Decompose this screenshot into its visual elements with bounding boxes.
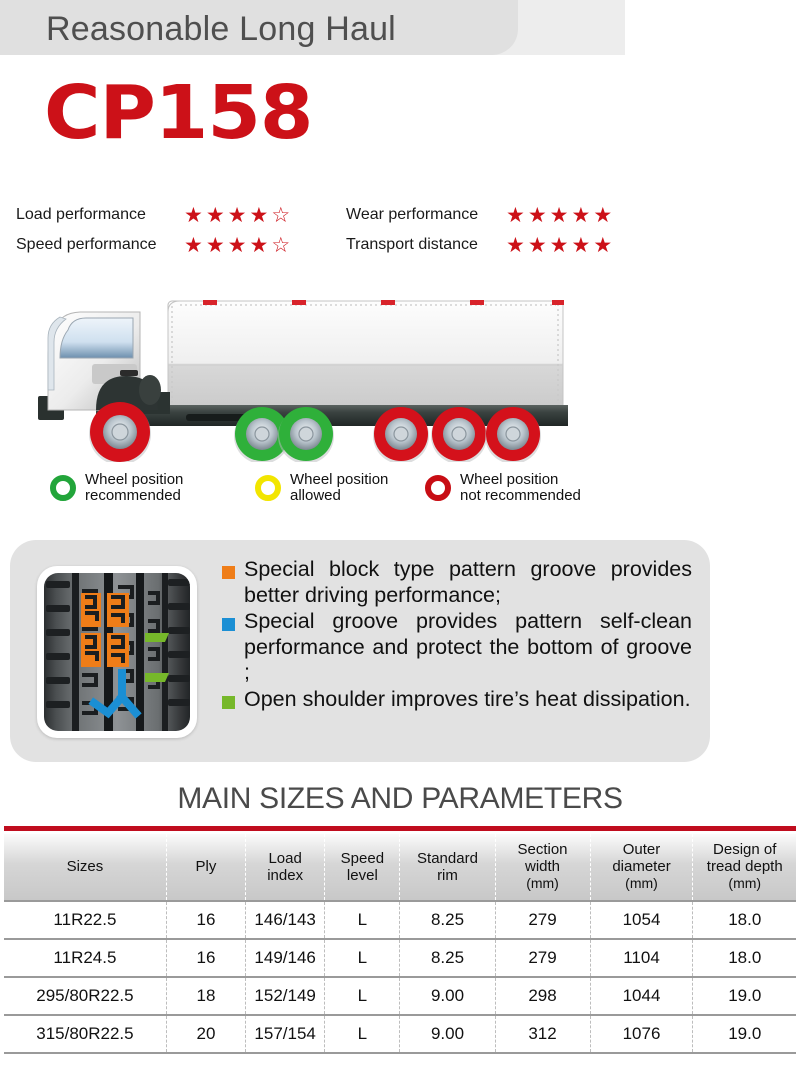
- rating-stars: ★★★★★: [506, 205, 612, 226]
- rating-row: Load performance ★★★★☆ Wear performance …: [16, 200, 796, 230]
- star-filled-icon: ★: [228, 205, 247, 226]
- table-cell: 8.25: [400, 901, 495, 939]
- table-row: 315/80R22.520157/154L9.00312107619.0: [4, 1015, 796, 1053]
- star-filled-icon: ★: [184, 205, 203, 226]
- table-cell: L: [325, 939, 400, 977]
- star-filled-icon: ★: [528, 205, 547, 226]
- column-header: Speedlevel: [325, 834, 400, 901]
- table-cell: 152/149: [246, 977, 325, 1015]
- yellow-ring-icon: [255, 475, 281, 501]
- column-header: Sizes: [4, 834, 166, 901]
- star-empty-icon: ☆: [271, 205, 290, 226]
- table-cell: 16: [166, 901, 245, 939]
- table-cell: 19.0: [693, 1015, 796, 1053]
- table-cell: 146/143: [246, 901, 325, 939]
- legend-item-recommended: Wheel position recommended: [50, 472, 183, 504]
- legend-label: Wheel position not recommended: [460, 472, 581, 504]
- rating-stars: ★★★★☆: [184, 235, 290, 256]
- table-cell: 11R22.5: [4, 901, 166, 939]
- rating-label: Transport distance: [346, 236, 506, 254]
- page-title: Reasonable Long Haul: [46, 8, 396, 50]
- green-bullet-icon: [222, 696, 235, 709]
- features-list: Special block type pattern groove provid…: [222, 557, 692, 713]
- table-section-title: MAIN SIZES AND PARAMETERS: [0, 782, 800, 816]
- model-name: CP158: [44, 72, 312, 154]
- rating-load-performance: Load performance ★★★★☆: [16, 205, 346, 226]
- green-ring-icon: [50, 475, 76, 501]
- star-filled-icon: ★: [249, 205, 268, 226]
- star-filled-icon: ★: [550, 205, 569, 226]
- feature-text: Open shoulder improves tire’s heat dissi…: [244, 687, 692, 713]
- table-cell: 19.0: [693, 977, 796, 1015]
- cargo-box: [168, 300, 564, 415]
- truck-illustration: [0, 272, 800, 462]
- tire-tread-image: [44, 573, 190, 731]
- column-header: Ply: [166, 834, 245, 901]
- star-filled-icon: ★: [184, 235, 203, 256]
- table-cell: 18.0: [693, 939, 796, 977]
- column-header: Loadindex: [246, 834, 325, 901]
- rating-row: Speed performance ★★★★☆ Transport distan…: [16, 230, 796, 260]
- star-filled-icon: ★: [571, 205, 590, 226]
- table-cell: 149/146: [246, 939, 325, 977]
- spec-table-wrapper: SizesPlyLoadindexSpeedlevelStandardrimSe…: [4, 826, 796, 1054]
- column-header: Outerdiameter(mm): [590, 834, 693, 901]
- table-cell: 16: [166, 939, 245, 977]
- table-cell: 315/80R22.5: [4, 1015, 166, 1053]
- rating-label: Wear performance: [346, 206, 506, 224]
- legend-item-not-recommended: Wheel position not recommended: [425, 472, 581, 504]
- star-filled-icon: ★: [228, 235, 247, 256]
- header-banner: Reasonable Long Haul: [0, 0, 625, 58]
- spec-table: SizesPlyLoadindexSpeedlevelStandardrimSe…: [4, 834, 796, 1054]
- star-filled-icon: ★: [593, 205, 612, 226]
- table-cell: 279: [495, 901, 590, 939]
- table-cell: 1054: [590, 901, 693, 939]
- rating-wear-performance: Wear performance ★★★★★: [346, 205, 612, 226]
- list-item: Open shoulder improves tire’s heat dissi…: [222, 687, 692, 713]
- table-cell: 157/154: [246, 1015, 325, 1053]
- table-cell: 20: [166, 1015, 245, 1053]
- table-cell: 1104: [590, 939, 693, 977]
- table-cell: L: [325, 901, 400, 939]
- table-cell: 312: [495, 1015, 590, 1053]
- star-filled-icon: ★: [528, 235, 547, 256]
- performance-ratings: Load performance ★★★★☆ Wear performance …: [16, 200, 796, 260]
- column-header: Design oftread depth(mm): [693, 834, 796, 901]
- red-ring-icon: [425, 475, 451, 501]
- rating-stars: ★★★★★: [506, 235, 612, 256]
- table-row: 295/80R22.518152/149L9.00298104419.0: [4, 977, 796, 1015]
- table-body: 11R22.516146/143L8.25279105418.011R24.51…: [4, 901, 796, 1053]
- star-filled-icon: ★: [550, 235, 569, 256]
- star-filled-icon: ★: [206, 235, 225, 256]
- table-row: 11R24.516149/146L8.25279110418.0: [4, 939, 796, 977]
- feature-text: Special block type pattern groove provid…: [244, 557, 692, 608]
- table-cell: 18.0: [693, 901, 796, 939]
- table-cell: 9.00: [400, 977, 495, 1015]
- star-filled-icon: ★: [249, 235, 268, 256]
- legend-label: Wheel position recommended: [85, 472, 183, 504]
- wheel-position-legend: Wheel position recommended Wheel positio…: [50, 470, 770, 514]
- blue-bullet-icon: [222, 618, 235, 631]
- star-filled-icon: ★: [206, 205, 225, 226]
- table-cell: 295/80R22.5: [4, 977, 166, 1015]
- star-filled-icon: ★: [506, 235, 525, 256]
- table-cell: 1076: [590, 1015, 693, 1053]
- rating-transport-distance: Transport distance ★★★★★: [346, 235, 612, 256]
- table-cell: 11R24.5: [4, 939, 166, 977]
- list-item: Special groove provides pattern self-cle…: [222, 609, 692, 686]
- star-empty-icon: ☆: [271, 235, 290, 256]
- rating-label: Load performance: [16, 206, 184, 224]
- features-panel: Special block type pattern groove provid…: [10, 540, 710, 762]
- table-cell: 1044: [590, 977, 693, 1015]
- truck-cab: [48, 312, 161, 410]
- table-cell: 18: [166, 977, 245, 1015]
- star-filled-icon: ★: [506, 205, 525, 226]
- table-cell: 279: [495, 939, 590, 977]
- feature-text: Special groove provides pattern self-cle…: [244, 609, 692, 686]
- rating-label: Speed performance: [16, 236, 184, 254]
- list-item: Special block type pattern groove provid…: [222, 557, 692, 608]
- rating-stars: ★★★★☆: [184, 205, 290, 226]
- rating-speed-performance: Speed performance ★★★★☆: [16, 235, 346, 256]
- table-row: 11R22.516146/143L8.25279105418.0: [4, 901, 796, 939]
- table-cell: 9.00: [400, 1015, 495, 1053]
- legend-item-allowed: Wheel position allowed: [255, 472, 388, 504]
- table-cell: 298: [495, 977, 590, 1015]
- tire-tread-card: [37, 566, 197, 738]
- orange-bullet-icon: [222, 566, 235, 579]
- table-header-row: SizesPlyLoadindexSpeedlevelStandardrimSe…: [4, 834, 796, 901]
- table-cell: L: [325, 977, 400, 1015]
- table-cell: L: [325, 1015, 400, 1053]
- star-filled-icon: ★: [593, 235, 612, 256]
- column-header: Sectionwidth(mm): [495, 834, 590, 901]
- star-filled-icon: ★: [571, 235, 590, 256]
- column-header: Standardrim: [400, 834, 495, 901]
- table-head: SizesPlyLoadindexSpeedlevelStandardrimSe…: [4, 834, 796, 901]
- legend-label: Wheel position allowed: [290, 472, 388, 504]
- table-cell: 8.25: [400, 939, 495, 977]
